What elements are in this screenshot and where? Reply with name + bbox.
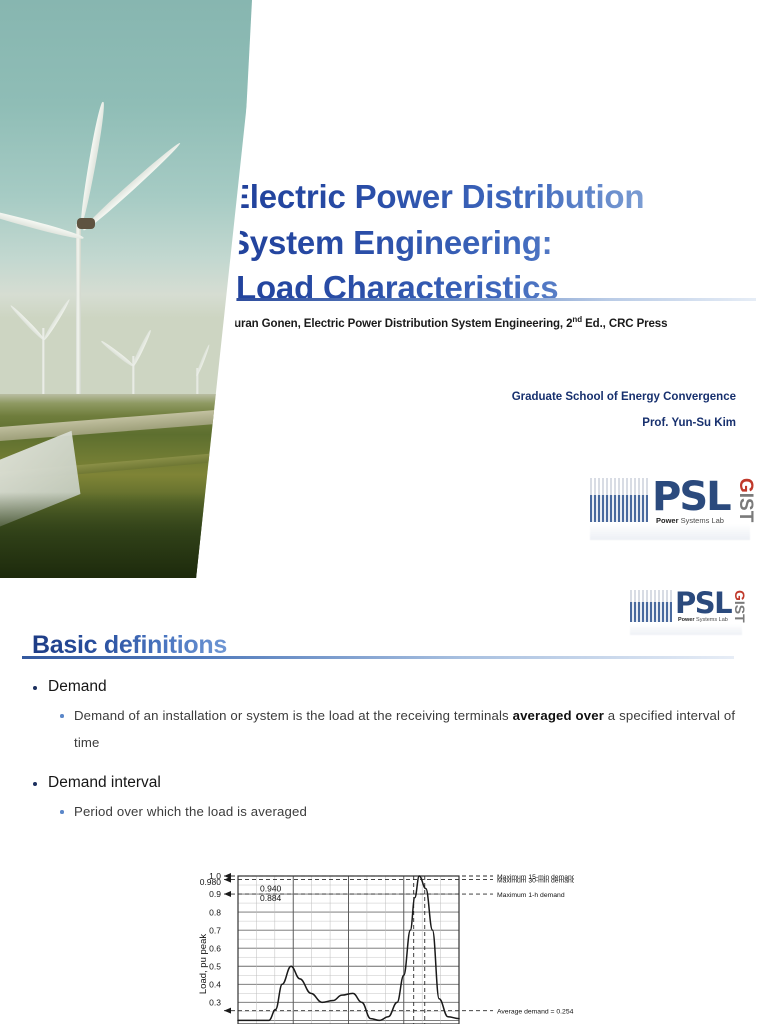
psl-barcode-bottom <box>590 495 648 522</box>
psl-barcode-bottom <box>630 602 672 622</box>
title-line-1: Electric Power Distribution <box>228 178 644 215</box>
body-spacer <box>30 758 744 774</box>
slide-title-divider <box>22 656 734 659</box>
psl-tagline-bold: Power <box>678 617 695 623</box>
svg-text:0.8: 0.8 <box>209 907 221 917</box>
title-line-2: System Engineering: <box>228 224 552 261</box>
sub-text-bold: averaged over <box>513 708 604 723</box>
bullet-demand-interval: Demand interval <box>30 774 744 792</box>
reference-superscript: nd <box>572 315 582 324</box>
svg-text:0.940: 0.940 <box>260 883 282 893</box>
psl-barcode-icon <box>590 478 648 522</box>
psl-wordmark: PSL <box>675 589 731 618</box>
psl-tagline-rest: Systems Lab <box>695 617 728 623</box>
title-divider <box>225 298 756 301</box>
svg-text:0.3: 0.3 <box>209 998 221 1008</box>
svg-text:Load, pu peak: Load, pu peak <box>198 934 209 994</box>
presenter-name: Prof. Yun-Su Kim <box>512 410 736 436</box>
psl-logo-reflection <box>590 524 750 540</box>
gist-wordmark: GIST <box>733 590 747 623</box>
turbine-hub <box>77 218 95 229</box>
svg-text:0.980: 0.980 <box>200 877 222 887</box>
content-slide: Basic definitions PSL Power Systems Lab … <box>0 578 768 1024</box>
gist-letter-g: G <box>732 590 748 601</box>
gist-wordmark: GIST <box>736 478 755 522</box>
sub-text-pre: Demand of an installation or system is t… <box>74 708 513 723</box>
psl-barcode-top <box>630 590 672 602</box>
svg-text:0.9: 0.9 <box>209 889 221 899</box>
reference-post: Ed., CRC Press <box>582 318 667 330</box>
psl-logo-header: PSL Power Systems Lab GIST <box>630 590 742 628</box>
title-line-3: Load Characteristics <box>228 265 748 311</box>
reference-pre: Turan Gonen, Electric Power Distribution… <box>228 318 572 330</box>
svg-text:0.6: 0.6 <box>209 943 221 953</box>
affiliation-school: Graduate School of Energy Convergence <box>512 384 736 410</box>
psl-tagline: Power Systems Lab <box>678 617 728 623</box>
page-title: Electric Power Distribution System Engin… <box>228 174 748 311</box>
wind-turbine-photo <box>0 0 258 578</box>
title-slide: Electric Power Distribution System Engin… <box>0 0 768 578</box>
sub-bullet-demand-interval-definition: Period over which the load is averaged <box>58 798 744 825</box>
gist-letter-g: G <box>735 478 756 493</box>
slide-body: Demand Demand of an installation or syst… <box>30 678 744 827</box>
svg-text:Maximum 30-min demand: Maximum 30-min demand <box>497 877 574 884</box>
psl-wordmark: PSL <box>652 477 730 517</box>
sub-text-pre: Period over which the load is averaged <box>74 804 307 819</box>
foreground-grass <box>0 492 258 578</box>
svg-text:0.884: 0.884 <box>260 893 282 903</box>
load-curve-svg: 1.00.90.80.70.60.50.40.30.980Load, pu pe… <box>196 868 574 1024</box>
sub-bullet-demand-definition: Demand of an installation or system is t… <box>58 702 744 756</box>
title-text-area: Electric Power Distribution System Engin… <box>222 0 768 578</box>
psl-logo-title: PSL Power Systems Lab GIST <box>590 478 750 530</box>
psl-logo-reflection <box>630 624 742 635</box>
svg-text:Average demand = 0.254: Average demand = 0.254 <box>497 1008 574 1015</box>
affiliation-block: Graduate School of Energy Convergence Pr… <box>512 384 736 437</box>
psl-barcode-icon <box>630 590 672 622</box>
psl-barcode-top <box>590 478 648 495</box>
bullet-demand: Demand <box>30 678 744 696</box>
svg-text:Maximum 1-h demand: Maximum 1-h demand <box>497 892 565 899</box>
svg-text:0.5: 0.5 <box>209 961 221 971</box>
load-curve-chart: 1.00.90.80.70.60.50.40.30.980Load, pu pe… <box>196 868 574 1024</box>
svg-text:0.7: 0.7 <box>209 925 221 935</box>
reference-citation: Turan Gonen, Electric Power Distribution… <box>228 315 667 330</box>
svg-text:0.4: 0.4 <box>209 979 221 989</box>
